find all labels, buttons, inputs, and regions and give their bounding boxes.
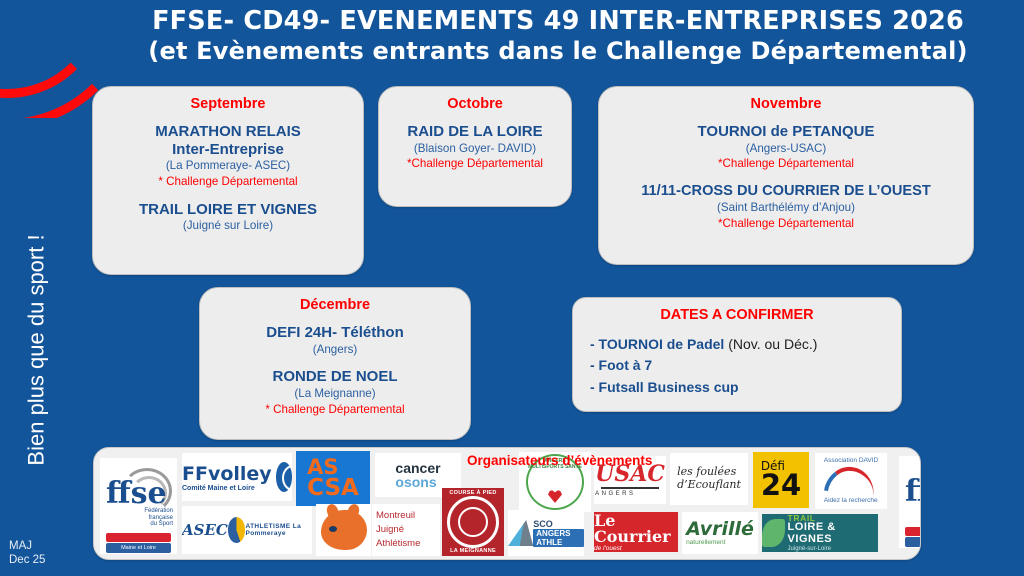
runners-ring-icon xyxy=(447,496,499,548)
ffse-red-bar xyxy=(905,527,921,536)
fox-head-logo[interactable] xyxy=(316,504,371,556)
update-stamp: MAJ Dec 25 xyxy=(9,539,45,568)
event-trail-loire-et-vignes: TRAIL LOIRE ET VIGNES (Juigné sur Loire) xyxy=(93,201,363,234)
event-location: (Angers) xyxy=(200,342,470,358)
fox-eye-icon xyxy=(329,526,337,532)
ffse-maine-et-loire-logo-left[interactable]: ffse Fédérationfrançaisedu Sport Maine e… xyxy=(100,458,177,554)
usac-subtitle: ANGERS xyxy=(595,491,665,497)
event-location: (Juigné sur Loire) xyxy=(93,218,363,234)
event-raid-de-la-loire: RAID DE LA LOIRE (Blaison Goyer- DAVID) … xyxy=(379,123,571,172)
heart-icon xyxy=(548,490,562,503)
course-a-pied-la-meignanne-logo[interactable]: COURSE À PIED LA MEIGNANNE xyxy=(442,488,504,556)
defi-number: 24 xyxy=(761,472,801,500)
slide-root: FFSE- CD49- EVENEMENTS 49 INTER-ENTREPRI… xyxy=(0,0,1024,576)
event-challenge-note: *Challenge Départemental xyxy=(379,156,571,172)
list-item-label: - TOURNOI de Padel xyxy=(590,336,724,352)
list-item: - Foot à 7 xyxy=(590,355,901,376)
event-title: RONDE DE NOEL xyxy=(200,368,470,386)
avrille-wordmark: Avrillé xyxy=(686,520,754,539)
sidebar-slogan-text: Bien plus que du sport ! xyxy=(24,234,50,465)
month-label-novembre: Novembre xyxy=(599,96,973,112)
dates-a-confirmer-heading: DATES A CONFIRMER xyxy=(573,307,901,323)
david-wordmark: Association DAVID xyxy=(824,457,878,465)
cap-top-text: COURSE À PIED xyxy=(442,490,504,496)
trail-loire-et-vignes-logo[interactable]: TRAIL LOIRE & VIGNES Juigné-sur-Loire xyxy=(762,514,878,552)
ffse-region-label: Maine et Loire xyxy=(106,543,171,553)
event-title: TOURNOI de PETANQUE xyxy=(599,123,973,141)
event-challenge-note: *Challenge Départemental xyxy=(599,156,973,172)
event-title: DEFI 24H- Téléthon xyxy=(200,324,470,342)
event-location: (La Pommeraye- ASEC) xyxy=(93,158,363,174)
courrier-wordmark: Le Courrier xyxy=(594,513,678,545)
month-label-septembre: Septembre xyxy=(93,96,363,112)
card-decembre[interactable]: Décembre DEFI 24H- Téléthon (Angers) RON… xyxy=(199,287,471,440)
sco-subtitle: ANGERS ATHLE xyxy=(533,529,584,547)
card-octobre[interactable]: Octobre RAID DE LA LOIRE (Blaison Goyer-… xyxy=(378,86,572,207)
event-tournoi-de-petanque: TOURNOI de PETANQUE (Angers-USAC) *Chall… xyxy=(599,123,973,172)
courrier-subtitle: de l'ouest xyxy=(594,545,678,552)
event-title: MARATHON RELAIS xyxy=(93,123,363,141)
le-courrier-de-louest-logo[interactable]: Le Courrier de l'ouest xyxy=(594,512,678,552)
list-item: - Futsall Business cup xyxy=(590,377,901,398)
event-location: (Blaison Goyer- DAVID) xyxy=(379,141,571,157)
leaf-icon xyxy=(762,519,785,547)
ffse-maine-et-loire-logo-right[interactable]: ffse Fédérationfrançaisedu Sport Maine e… xyxy=(899,456,921,548)
dates-a-confirmer-list: - TOURNOI de Padel (Nov. ou Déc.) - Foot… xyxy=(573,334,901,398)
csa-wordmark: CSA xyxy=(307,478,359,499)
mja-wordmark: Montreuil Juigné Athlétisme xyxy=(372,509,440,550)
ffse-red-bar xyxy=(106,533,171,542)
sco-angers-athle-logo[interactable]: SCO ANGERS ATHLE xyxy=(508,510,584,556)
event-title: 11/11-CROSS DU COURRIER DE L’OUEST xyxy=(599,183,973,200)
asec-athletisme-logo[interactable]: ASEC ATHLETISME La Pommeraye xyxy=(182,506,312,554)
defi-24h-logo[interactable]: Défi 24 xyxy=(753,452,809,508)
cancer-wordmark: cancer xyxy=(395,461,440,475)
list-item: - TOURNOI de Padel (Nov. ou Déc.) xyxy=(590,334,901,355)
foulees-subtitle: d’Ecouflant xyxy=(677,479,741,492)
organisateurs-label: Organisateurs d’évènements xyxy=(467,453,652,468)
ffvolley-logo[interactable]: FFvolley Comité Maine et Loire xyxy=(182,453,292,501)
title-line-2: (et Evènements entrants dans le Challeng… xyxy=(128,37,988,66)
event-title-line2: Inter-Entreprise xyxy=(93,141,363,159)
card-septembre[interactable]: Septembre MARATHON RELAIS Inter-Entrepri… xyxy=(92,86,364,275)
event-title: TRAIL LOIRE ET VIGNES xyxy=(93,201,363,219)
ffvolley-wordmark: FFvolley xyxy=(182,463,272,485)
david-swoosh-icon xyxy=(824,463,878,499)
montreuil-juigne-athletisme-logo[interactable]: Montreuil Juigné Athlétisme xyxy=(372,504,440,556)
volleyball-icon xyxy=(276,462,292,492)
usac-divider xyxy=(601,487,659,489)
sco-triangle-icon xyxy=(508,520,533,546)
les-foulees-ecouflant-logo[interactable]: les foulées d’Ecouflant xyxy=(670,453,748,505)
event-cross-du-courrier-de-louest: 11/11-CROSS DU COURRIER DE L’OUEST (Sain… xyxy=(599,183,973,232)
asec-subtitle: ATHLETISME La Pommeraye xyxy=(245,523,312,537)
list-item-label: - Futsall Business cup xyxy=(590,379,739,395)
event-ronde-de-noel: RONDE DE NOEL (La Meignanne) * Challenge… xyxy=(200,368,470,417)
sponsor-logo-bar: Organisateurs d’évènements ffse Fédérati… xyxy=(93,447,921,560)
runner-icon xyxy=(228,517,246,543)
osons-wordmark: osons xyxy=(395,475,440,489)
arc-inner-icon xyxy=(0,0,106,98)
list-item-note: (Nov. ou Déc.) xyxy=(728,336,817,352)
ffse-tagline: Fédérationfrançaisedu Sport xyxy=(144,508,173,528)
card-dates-a-confirmer[interactable]: DATES A CONFIRMER - TOURNOI de Padel (No… xyxy=(572,297,902,412)
ffse-wordmark: ffse xyxy=(106,476,167,511)
asec-wordmark: ASEC xyxy=(182,521,228,539)
card-novembre[interactable]: Novembre TOURNOI de PETANQUE (Angers-USA… xyxy=(598,86,974,265)
title-line-1: FFSE- CD49- EVENEMENTS 49 INTER-ENTREPRI… xyxy=(128,6,988,37)
event-location: (Saint Barthélémy d’Anjou) xyxy=(599,200,973,216)
ffse-region-label: Maine et Loire xyxy=(905,537,921,547)
trail-location: Juigné-sur-Loire xyxy=(788,546,878,553)
sidebar-slogan: Bien plus que du sport ! xyxy=(14,190,60,510)
cap-bottom-text: LA MEIGNANNE xyxy=(442,548,504,554)
sco-wordmark: SCO xyxy=(533,519,584,529)
event-location: (La Meignanne) xyxy=(200,386,470,402)
event-title: RAID DE LA LOIRE xyxy=(379,123,571,141)
as-csa-logo[interactable]: AS CSA xyxy=(296,451,370,506)
page-title: FFSE- CD49- EVENEMENTS 49 INTER-ENTREPRI… xyxy=(128,6,988,66)
event-challenge-note: *Challenge Départemental xyxy=(599,216,973,232)
event-challenge-note: * Challenge Départemental xyxy=(200,402,470,418)
list-item-label: - Foot à 7 xyxy=(590,357,652,373)
month-label-octobre: Octobre xyxy=(379,96,571,112)
fox-icon xyxy=(321,510,367,550)
avrille-logo[interactable]: Avrillé naturellement xyxy=(682,512,758,554)
update-label: MAJ xyxy=(9,539,45,554)
association-david-logo[interactable]: Association DAVID Aidez la recherche xyxy=(815,453,887,509)
update-date: Dec 25 xyxy=(9,553,45,568)
ffse-wordmark: ffse xyxy=(905,474,921,509)
event-challenge-note: * Challenge Départemental xyxy=(93,174,363,190)
avrille-subtitle: naturellement xyxy=(686,539,754,546)
event-marathon-relais: MARATHON RELAIS Inter-Entreprise (La Pom… xyxy=(93,123,363,190)
event-defi-24h-telethon: DEFI 24H- Téléthon (Angers) xyxy=(200,324,470,357)
event-location: (Angers-USAC) xyxy=(599,141,973,157)
ffvolley-subtitle: Comité Maine et Loire xyxy=(182,485,272,492)
month-label-decembre: Décembre xyxy=(200,297,470,313)
trail-subtitle: LOIRE & VIGNES xyxy=(788,522,878,545)
